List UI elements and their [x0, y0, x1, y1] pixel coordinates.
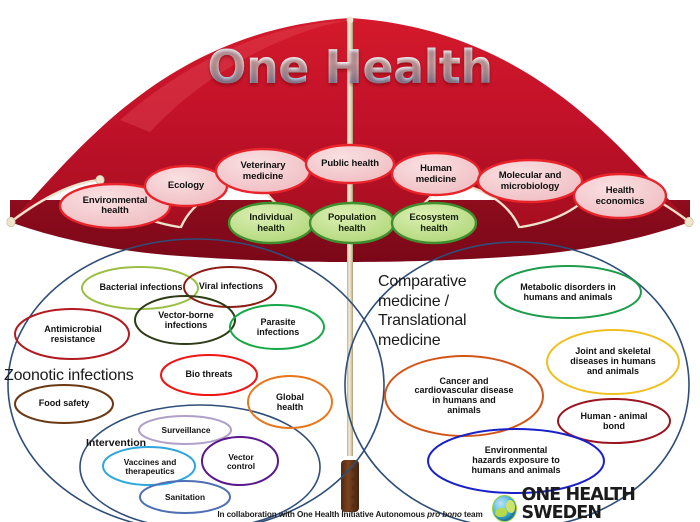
ellipse-sanitation[interactable] — [140, 481, 230, 513]
one-health-umbrella-infographic: One Health Environmental health Ecology … — [0, 0, 700, 522]
umbrella-graphic — [7, 17, 693, 512]
collaboration-credit: In collaboration with One Health Initiat… — [0, 510, 700, 519]
ellipse-vector-borne-infections[interactable] — [135, 296, 235, 344]
credit-italic: pro bono — [427, 510, 462, 519]
intervention-circle — [80, 405, 320, 522]
ellipse-bio-threats[interactable] — [161, 355, 257, 395]
ellipse-parasite-infections[interactable] — [230, 305, 324, 349]
umbrella-finial — [347, 17, 354, 24]
ellipse-vector-control[interactable] — [202, 437, 278, 485]
ellipse-food-safety[interactable] — [15, 385, 113, 423]
ellipse-antimicrobial-resistance[interactable] — [15, 309, 129, 359]
ellipse-veterinary-medicine[interactable] — [216, 149, 310, 193]
ellipse-metabolic-disorders[interactable] — [495, 266, 641, 318]
ellipse-health-economics[interactable] — [574, 174, 666, 218]
zoonotic-ellipses — [15, 267, 332, 428]
ellipse-individual-health[interactable] — [229, 203, 313, 243]
core-ellipses — [229, 203, 476, 243]
ellipse-public-health[interactable] — [306, 145, 394, 183]
ellipse-ecology[interactable] — [145, 166, 227, 206]
comparative-medicine-ellipses — [385, 266, 679, 493]
ellipse-human-medicine[interactable] — [392, 153, 480, 195]
ellipse-molecular-and-microbiology[interactable] — [478, 160, 582, 202]
intervention-ellipses — [103, 416, 278, 513]
ellipse-cancer-and-cardiovascular-disease[interactable] — [385, 356, 543, 436]
credit-prefix: In collaboration with One Health Initiat… — [217, 510, 427, 519]
credit-suffix: team — [462, 510, 483, 519]
ellipse-joint-and-skeletal-diseases[interactable] — [547, 330, 679, 394]
ellipse-bacterial-infections[interactable] — [82, 267, 198, 309]
ellipse-vaccines-and-therapeutics[interactable] — [103, 447, 195, 485]
ellipse-population-health[interactable] — [310, 203, 394, 243]
infographic-canvas — [0, 0, 700, 522]
ellipse-ecosystem-health[interactable] — [392, 203, 476, 243]
ellipse-environmental-hazards-exposure[interactable] — [428, 429, 604, 493]
ellipse-surveillance[interactable] — [139, 416, 231, 444]
ellipse-global-health[interactable] — [248, 376, 332, 428]
